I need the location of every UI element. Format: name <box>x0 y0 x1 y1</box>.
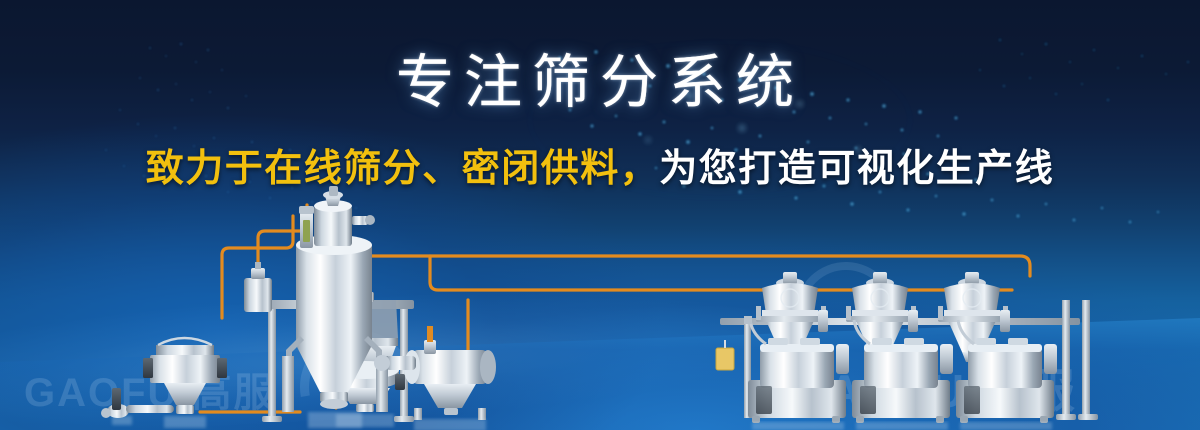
production-line-illustration <box>0 0 1200 430</box>
control-box <box>716 340 734 370</box>
vibrating-feeder-unit <box>101 338 227 428</box>
hero-banner: 专注筛分系统 致力于在线筛分、密闭供料，为您打造可视化生产线 GAOFU 高服 … <box>0 0 1200 430</box>
